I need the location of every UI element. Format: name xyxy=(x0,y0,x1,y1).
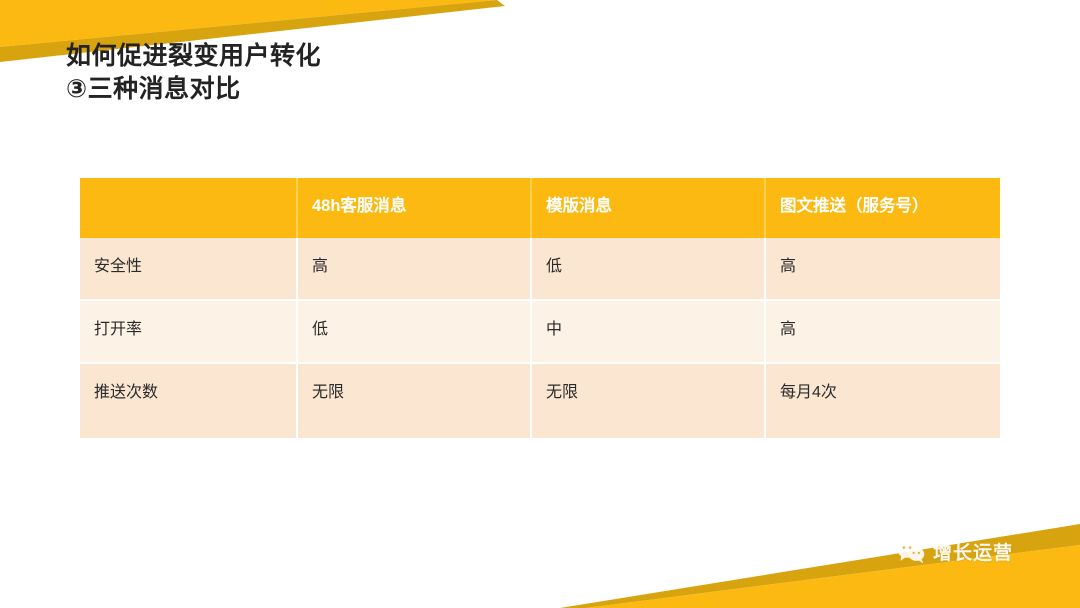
table-row: 打开率 低 中 高 xyxy=(80,301,1000,364)
cell-value: 低 xyxy=(532,238,766,301)
cell-value: 无限 xyxy=(298,364,532,438)
table-header: 48h客服消息 模版消息 图文推送（服务号） xyxy=(80,178,1000,238)
header-cell-tuwen: 图文推送（服务号） xyxy=(766,178,1000,238)
cell-value: 高 xyxy=(766,238,1000,301)
header-cell-moban: 模版消息 xyxy=(532,178,766,238)
cell-value: 低 xyxy=(298,301,532,364)
cell-value: 中 xyxy=(532,301,766,364)
cell-value: 高 xyxy=(766,301,1000,364)
cell-value: 高 xyxy=(298,238,532,301)
title-line-1: 如何促进裂变用户转化 xyxy=(66,40,321,73)
page-title: 如何促进裂变用户转化 ③三种消息对比 xyxy=(66,40,321,105)
row-label-anquanxing: 安全性 xyxy=(80,238,298,301)
bottom-band-gold-edge xyxy=(560,524,1080,608)
table-row: 安全性 高 低 高 xyxy=(80,238,1000,301)
title-line-2: ③三种消息对比 xyxy=(66,73,321,106)
cell-value: 无限 xyxy=(532,364,766,438)
row-label-dakailv: 打开率 xyxy=(80,301,298,364)
wechat-bubbles-icon xyxy=(896,540,926,564)
watermark-text: 增长运营 xyxy=(933,538,1013,565)
comparison-table-container: 48h客服消息 模版消息 图文推送（服务号） 安全性 高 低 高 打开率 低 中… xyxy=(80,178,1000,438)
slide-canvas: 如何促进裂变用户转化 ③三种消息对比 48h客服消息 模版消息 图文推送（服务号… xyxy=(0,0,1080,608)
header-cell-corner xyxy=(80,178,298,238)
cell-value: 每月4次 xyxy=(766,364,1000,438)
table-row: 推送次数 无限 无限 每月4次 xyxy=(80,364,1000,438)
watermark: 增长运营 xyxy=(896,538,1013,565)
header-cell-kefu: 48h客服消息 xyxy=(298,178,532,238)
comparison-table: 48h客服消息 模版消息 图文推送（服务号） 安全性 高 低 高 打开率 低 中… xyxy=(80,178,1000,438)
table-header-row: 48h客服消息 模版消息 图文推送（服务号） xyxy=(80,178,1000,238)
table-body: 安全性 高 低 高 打开率 低 中 高 推送次数 无限 无限 每月4次 xyxy=(80,238,1000,438)
row-label-tuisongcishu: 推送次数 xyxy=(80,364,298,438)
